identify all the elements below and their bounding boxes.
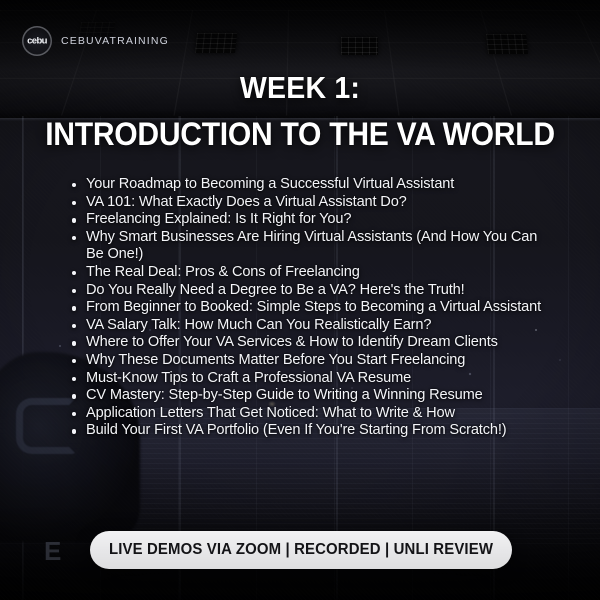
eyebrow-heading: WEEK 1: [24,70,576,106]
brand-name: CEBUVATRAINING [61,35,169,47]
page-title: INTRODUCTION TO THE VA WORLD [18,116,582,153]
cebu-circle-logo-icon: cebu [22,26,52,56]
list-item: Why These Documents Matter Before You St… [70,352,550,370]
list-item: VA Salary Talk: How Much Can You Realist… [70,317,550,335]
list-item: From Beginner to Booked: Simple Steps to… [70,299,550,317]
list-item: Why Smart Businesses Are Hiring Virtual … [70,229,550,264]
cta-banner: LIVE DEMOS VIA ZOOM | RECORDED | UNLI RE… [90,531,512,569]
promo-poster: cebu CEBUVATRAINING WEEK 1: INTRODUCTION… [0,0,600,600]
topic-list: Your Roadmap to Becoming a Successful Vi… [70,176,550,440]
list-item: Do You Really Need a Degree to Be a VA? … [70,282,550,300]
list-item: Freelancing Explained: Is It Right for Y… [70,211,550,229]
list-item: Where to Offer Your VA Services & How to… [70,334,550,352]
list-item: Build Your First VA Portfolio (Even If Y… [70,422,550,440]
brand-row: cebu CEBUVATRAINING [22,26,169,56]
cta-banner-label: LIVE DEMOS VIA ZOOM | RECORDED | UNLI RE… [109,541,493,559]
background-ghost-text: E [44,536,62,567]
list-item: Must-Know Tips to Craft a Professional V… [70,370,550,388]
list-item: The Real Deal: Pros & Cons of Freelancin… [70,264,550,282]
brand-logo-mark: cebu [27,37,47,47]
list-item: Application Letters That Get Noticed: Wh… [70,405,550,423]
list-item: CV Mastery: Step-by-Step Guide to Writin… [70,387,550,405]
list-item: Your Roadmap to Becoming a Successful Vi… [70,176,550,194]
list-item: VA 101: What Exactly Does a Virtual Assi… [70,194,550,212]
